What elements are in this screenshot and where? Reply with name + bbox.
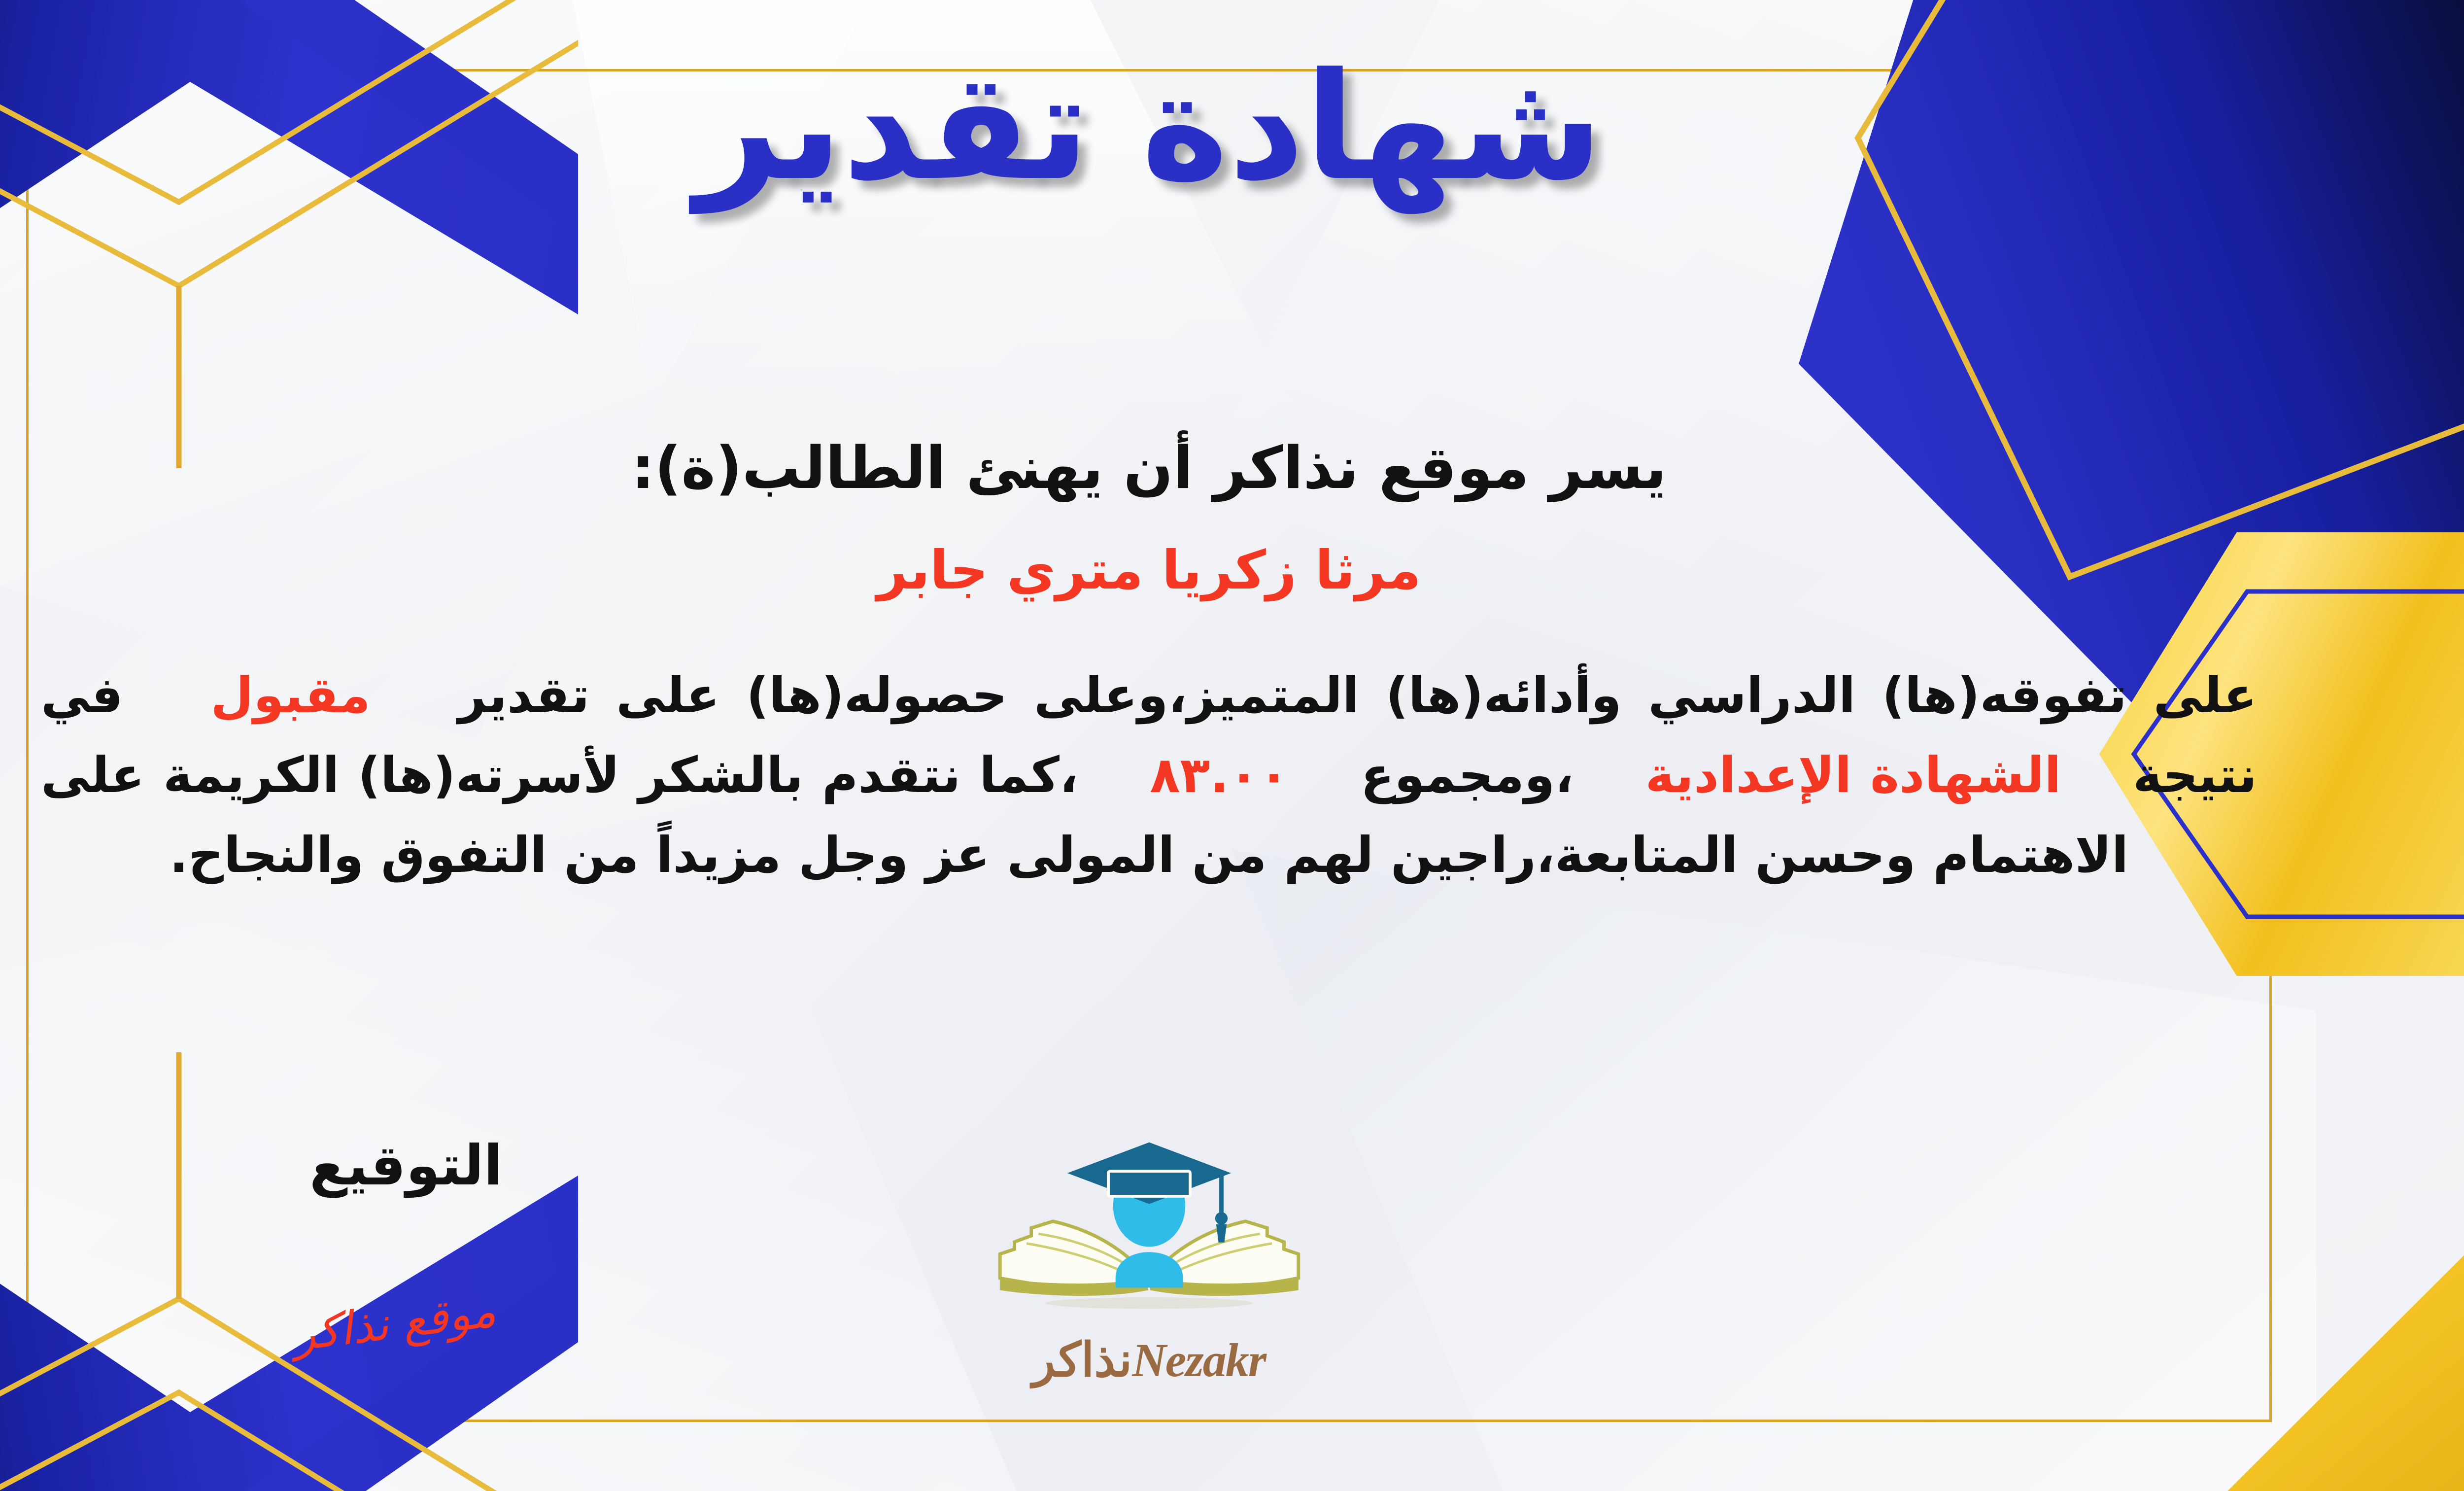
student-name: مرثا زكريا متري جابر — [0, 540, 2464, 601]
certificate-title: شهادة تقدير — [0, 49, 2464, 205]
certificate-canvas: شهادة تقدير يسر موقع نذاكر أن يهنئ الطال… — [0, 0, 2464, 1491]
greeting-line: يسر موقع نذاكر أن يهنئ الطالب(ة): — [0, 434, 2464, 502]
logo-arabic-text: نذاكر — [1032, 1332, 1132, 1387]
body-text-part1: على تفوقه(ها) الدراسي وأدائه(ها) المتميز… — [458, 666, 2257, 724]
signature-mark: موقع نذاكر — [290, 1284, 499, 1361]
site-logo: Nezakrنذاكر — [977, 1134, 1322, 1410]
grade-value: مقبول — [210, 666, 370, 724]
graduate-book-icon — [977, 1134, 1322, 1341]
signature-label: التوقيع — [309, 1134, 503, 1198]
exam-name: الشهادة الإعدادية — [1645, 746, 2061, 804]
logo-wordmark: Nezakrنذاكر — [977, 1332, 1322, 1387]
certificate-content: شهادة تقدير يسر موقع نذاكر أن يهنئ الطال… — [0, 0, 2464, 1491]
logo-latin-text: Nezakr — [1132, 1334, 1266, 1387]
total-score: ٨٣.٠٠ — [1150, 746, 1289, 804]
body-text-part3: ،ومجموع — [1361, 746, 1574, 804]
certificate-body: على تفوقه(ها) الدراسي وأدائه(ها) المتميز… — [41, 656, 2257, 895]
